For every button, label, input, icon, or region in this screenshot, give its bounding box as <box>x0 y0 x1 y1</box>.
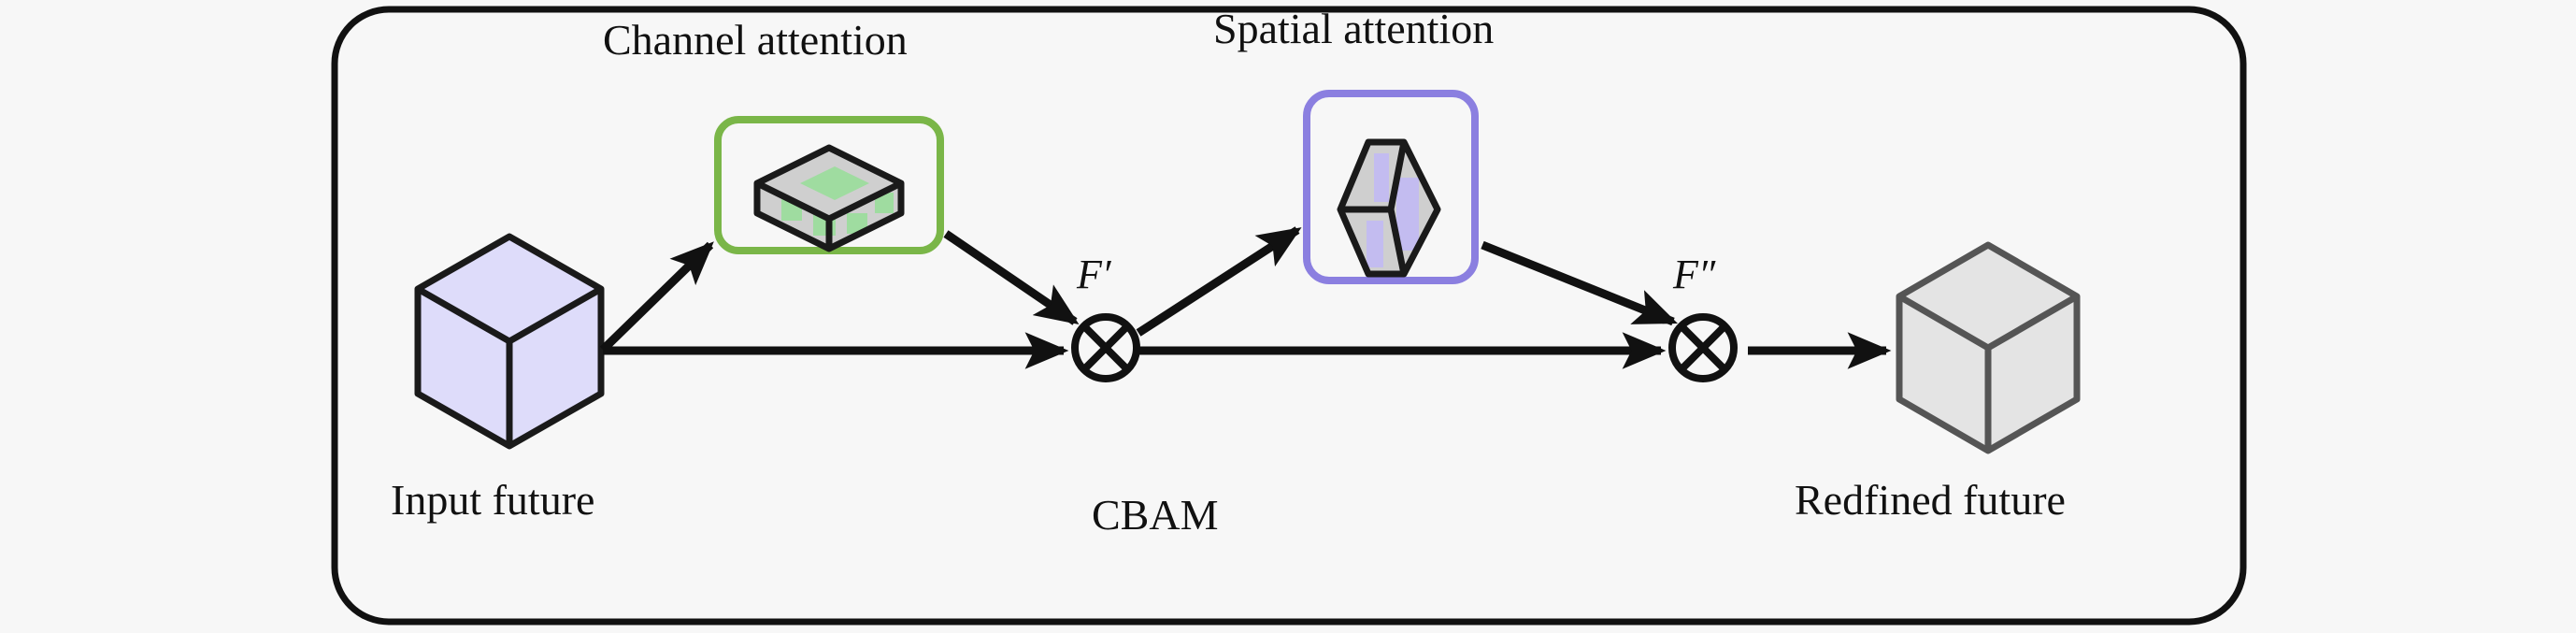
arrow-input-to-channel-attention <box>603 245 710 350</box>
multiply-node-2 <box>1672 317 1734 379</box>
label-input-future: Input future <box>391 479 594 522</box>
label-f-prime: F′ <box>1077 254 1111 295</box>
label-spatial-attention: Spatial attention <box>1213 7 1494 50</box>
label-channel-attention: Channel attention <box>603 19 908 62</box>
figure-canvas: Channel attention Spatial attention Inpu… <box>0 0 2576 633</box>
label-cbam: CBAM <box>1092 494 1218 537</box>
label-redfined-future: Redfined future <box>1795 479 2066 522</box>
input-cube <box>418 237 601 446</box>
spatial-attention-module[interactable] <box>1307 94 1475 281</box>
multiply-node-1 <box>1075 317 1137 379</box>
output-cube <box>1899 245 2077 451</box>
cbam-diagram <box>0 0 2576 633</box>
label-f-double-prime: F″ <box>1673 254 1715 295</box>
arrow-channel-attention-to-multiply-1 <box>946 234 1075 322</box>
arrow-multiply-1-to-spatial-attention <box>1138 230 1297 333</box>
channel-attention-module[interactable] <box>718 120 940 251</box>
arrow-spatial-attention-to-multiply-2 <box>1482 245 1673 322</box>
